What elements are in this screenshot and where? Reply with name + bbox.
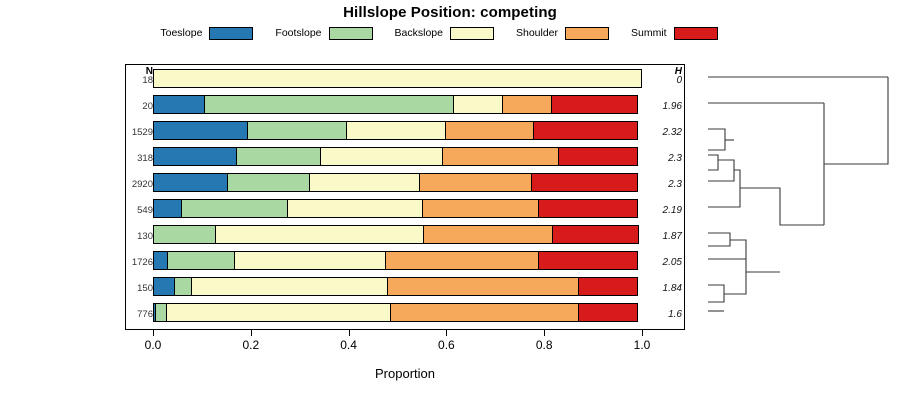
legend-item: Shoulder (516, 27, 609, 40)
h-value: 2.32 (644, 127, 682, 138)
axis-tick (642, 330, 643, 336)
page-title: Hillslope Position: competing (0, 4, 900, 21)
axis-tick-label: 0.0 (133, 338, 173, 352)
bar-segment (445, 121, 534, 140)
bar-segment (247, 121, 347, 140)
bar-segment (166, 303, 391, 322)
legend-label: Footslope (275, 27, 321, 39)
bar-row: RUBICON29202.3 (125, 170, 685, 196)
h-value: 1.6 (644, 309, 682, 320)
legend-swatch (329, 27, 373, 40)
n-value: 150 (125, 283, 153, 294)
x-axis-title: Proportion (125, 366, 685, 381)
bar-segment (287, 199, 423, 218)
bar-segment (215, 225, 424, 244)
h-value: 0 (644, 75, 682, 86)
stacked-bar (153, 69, 642, 88)
axis-tick (251, 330, 252, 336)
bar-segment (236, 147, 321, 166)
axis-tick (349, 330, 350, 336)
axis-tick-label: 0.6 (426, 338, 466, 352)
legend-swatch (565, 27, 609, 40)
axis-tick-label: 0.8 (524, 338, 564, 352)
bar-segment (309, 173, 420, 192)
n-value: 20 (125, 101, 153, 112)
axis-tick-label: 1.0 (622, 338, 662, 352)
h-value: 2.3 (644, 153, 682, 164)
legend-item: Toeslope (160, 27, 253, 40)
axis-tick-label: 0.2 (231, 338, 271, 352)
bar-segment (419, 173, 532, 192)
legend-label: Shoulder (516, 27, 558, 39)
n-value: 549 (125, 205, 153, 216)
bar-segment (385, 251, 539, 270)
axis-tick (446, 330, 447, 336)
bar-segment (153, 121, 248, 140)
chart-root: Hillslope Position: competing ToeslopeFo… (0, 0, 900, 400)
legend: ToeslopeFootslopeBackslopeShoulderSummit (100, 25, 800, 41)
bar-segment (153, 225, 216, 244)
bar-segment (153, 251, 168, 270)
stacked-bar (153, 277, 642, 296)
dendrogram (700, 60, 895, 340)
bar-segment (578, 303, 638, 322)
bar-segment (422, 199, 539, 218)
bar-segment (558, 147, 638, 166)
dendrogram-svg (700, 60, 895, 340)
bar-segment (153, 69, 642, 88)
legend-label: Summit (631, 27, 667, 39)
n-value: 776 (125, 309, 153, 320)
bar-segment (538, 199, 638, 218)
bar-row: KARLIN17262.05 (125, 248, 685, 274)
bar-segment (153, 95, 205, 114)
bar-row: HARTWICK180 (125, 66, 685, 92)
bar-segment (153, 147, 237, 166)
stacked-bar (153, 173, 642, 192)
stacked-bar (153, 199, 642, 218)
x-axis: 0.00.20.40.60.81.0 (125, 330, 685, 370)
axis-tick (544, 330, 545, 336)
bar-row: ROUSSEAU5492.19 (125, 196, 685, 222)
bar-segment (234, 251, 386, 270)
n-value: 130 (125, 231, 153, 242)
axis-tick-label: 0.4 (329, 338, 369, 352)
n-value: 18 (125, 75, 153, 86)
legend-swatch (209, 27, 253, 40)
bar-row: SAYNER7761.6 (125, 300, 685, 326)
h-value: 2.3 (644, 179, 682, 190)
legend-label: Toeslope (160, 27, 202, 39)
bar-segment (442, 147, 559, 166)
bar-segment (181, 199, 288, 218)
legend-swatch (450, 27, 494, 40)
stacked-bar (153, 303, 642, 322)
bar-segment (533, 121, 638, 140)
bar-segment (551, 95, 638, 114)
stacked-bar (153, 225, 642, 244)
n-value: 1529 (125, 127, 153, 138)
bar-segment (191, 277, 388, 296)
bar-row: EAST LAKE15292.32 (125, 118, 685, 144)
bar-segment (387, 277, 579, 296)
bar-segment (204, 95, 454, 114)
stacked-bar (153, 121, 642, 140)
axis-tick (153, 330, 154, 336)
bar-segment (423, 225, 553, 244)
bar-segment (174, 277, 192, 296)
legend-swatch (674, 27, 718, 40)
bar-row: ISHPEMING1301.87 (125, 222, 685, 248)
stacked-bar (153, 147, 642, 166)
bar-segment (346, 121, 446, 140)
h-value: 1.87 (644, 231, 682, 242)
legend-item: Backslope (395, 27, 494, 40)
bar-row: SULTZ1501.84 (125, 274, 685, 300)
bar-row: KIVA3182.3 (125, 144, 685, 170)
h-value: 2.05 (644, 257, 682, 268)
bar-segment (502, 95, 552, 114)
n-value: 318 (125, 153, 153, 164)
bar-rows: HARTWICK180DUEL201.96EAST LAKE15292.32KI… (125, 64, 685, 330)
legend-item: Summit (631, 27, 718, 40)
bar-segment (531, 173, 638, 192)
n-value: 2920 (125, 179, 153, 190)
h-value: 1.84 (644, 283, 682, 294)
bar-segment (390, 303, 579, 322)
bar-segment (578, 277, 638, 296)
stacked-bar (153, 251, 642, 270)
bar-segment (153, 277, 175, 296)
bar-segment (453, 95, 503, 114)
h-value: 1.96 (644, 101, 682, 112)
bar-segment (167, 251, 235, 270)
bar-segment (552, 225, 639, 244)
bar-segment (153, 199, 182, 218)
bar-segment (320, 147, 443, 166)
bar-segment (153, 173, 228, 192)
bar-segment (538, 251, 638, 270)
h-value: 2.19 (644, 205, 682, 216)
legend-label: Backslope (395, 27, 443, 39)
n-value: 1726 (125, 257, 153, 268)
bar-segment (227, 173, 310, 192)
legend-item: Footslope (275, 27, 372, 40)
stacked-bar (153, 95, 642, 114)
bar-row: DUEL201.96 (125, 92, 685, 118)
